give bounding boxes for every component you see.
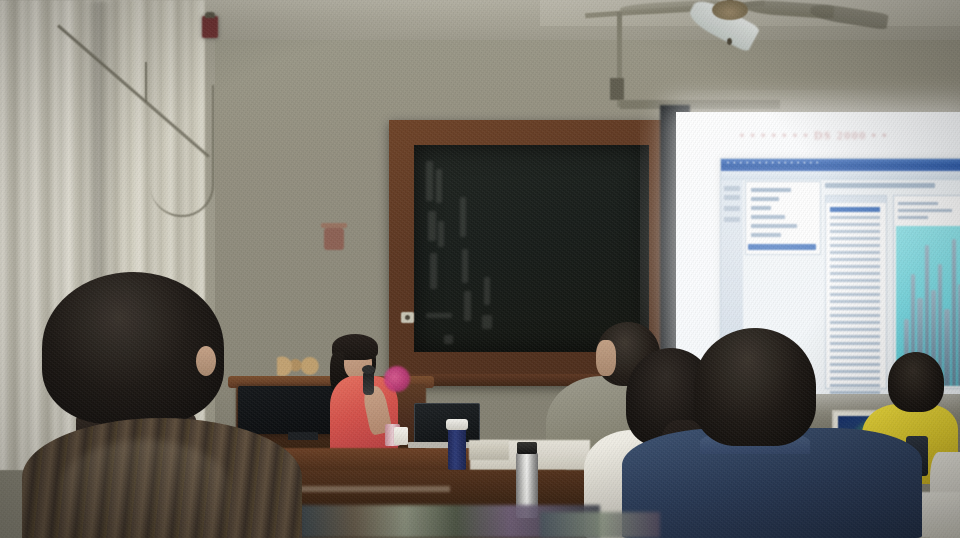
slide-title: • • • • • • • DS 2000 • •	[740, 130, 960, 145]
app-title-bar: • • • • • • • • • • • • • • •	[721, 159, 960, 171]
audience-navy-shirt-head	[694, 328, 816, 446]
blackboard-clip	[401, 312, 414, 323]
app-menu-bar	[721, 171, 960, 180]
monitor-stand	[288, 432, 318, 440]
hanging-cable-loop	[150, 85, 214, 217]
jars-on-shelf	[277, 352, 319, 376]
conduit-junction-box	[610, 78, 624, 100]
microphone-icon	[363, 371, 374, 395]
app-tree-selected-node	[748, 244, 816, 250]
audience-long-hair-highlight	[60, 440, 230, 538]
fan-hub	[712, 0, 748, 20]
audience-foreground-man-head	[42, 272, 224, 424]
hanging-cable-vertical	[145, 62, 147, 102]
app-title-bar-text: • • • • • • • • • • • • • • •	[721, 159, 960, 167]
navy-water-bottle	[448, 428, 466, 470]
app-path-bar	[825, 183, 935, 188]
fire-extinguisher-sign-icon	[324, 228, 344, 250]
red-wall-fixture-icon	[202, 16, 218, 38]
audience-yellow-jacket-head	[888, 352, 944, 412]
wall-ledge	[620, 100, 780, 109]
audience-gray-shirt-face	[596, 340, 616, 376]
audience-foreground-man-ear	[196, 346, 216, 376]
app-list-header	[826, 196, 886, 203]
desk-clutter-right	[540, 512, 660, 538]
desk-equipment-box	[469, 440, 509, 460]
app-data-list	[825, 195, 887, 389]
pink-flower	[384, 366, 410, 392]
app-navigation-tree	[745, 181, 821, 255]
blackboard-surface	[414, 145, 649, 352]
fan-pull-chain	[727, 38, 732, 45]
white-cup	[394, 427, 408, 445]
photo-scene: • • • • • • • DS 2000 • • • • • • • • • …	[0, 0, 960, 538]
